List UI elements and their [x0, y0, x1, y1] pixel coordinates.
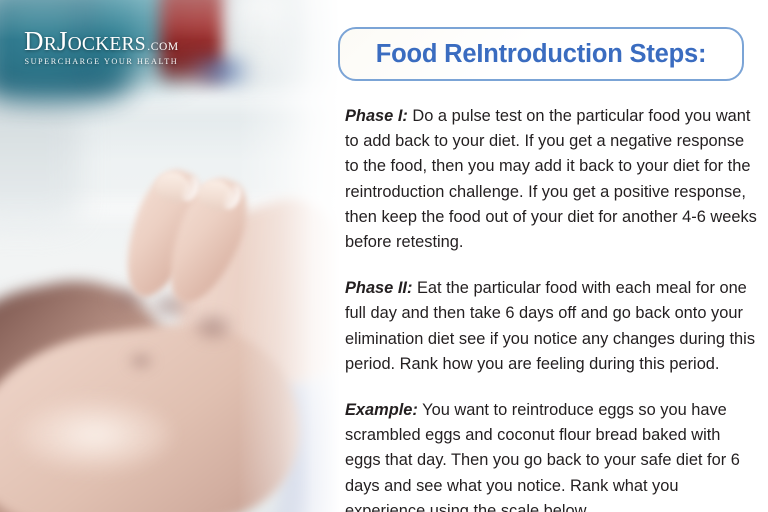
content-panel: Food ReIntroduction Steps: Phase I: Do a… [330, 0, 768, 512]
paragraph-example: Example: You want to reintroduce eggs so… [345, 398, 757, 512]
brand-logo[interactable]: DRJOCKERS.COM SUPERCHARGE YOUR HEALTH [24, 28, 179, 66]
brand-tagline: SUPERCHARGE YOUR HEALTH [24, 58, 179, 66]
paragraph-phase-2: Phase II: Eat the particular food with e… [345, 276, 757, 377]
phase-1-text: Do a pulse test on the particular food y… [345, 107, 757, 251]
phase-1-label: Phase I: [345, 107, 408, 125]
logo-letters-ockers: OCKERS [68, 34, 146, 55]
hand-highlight [20, 400, 170, 470]
knuckle-shadow [128, 352, 154, 370]
infographic-root: DRJOCKERS.COM SUPERCHARGE YOUR HEALTH Fo… [0, 0, 768, 512]
phase-2-label: Phase II: [345, 279, 412, 297]
logo-letter-d: D [24, 26, 44, 56]
steps-body: Phase I: Do a pulse test on the particul… [345, 104, 757, 512]
title-box: Food ReIntroduction Steps: [338, 27, 744, 81]
logo-letter-r: R [44, 34, 57, 55]
knuckle-shadow [192, 312, 234, 342]
blue-label-blur [186, 58, 256, 84]
pulse-test-photo [0, 0, 340, 512]
paragraph-phase-1: Phase I: Do a pulse test on the particul… [345, 104, 757, 255]
background-blur-left [0, 96, 80, 226]
logo-dotcom: .COM [147, 41, 178, 53]
page-title: Food ReIntroduction Steps: [376, 40, 707, 69]
logo-letter-j: J [57, 26, 68, 56]
example-label: Example: [345, 401, 418, 419]
brand-logo-wordmark: DRJOCKERS.COM [24, 28, 179, 55]
